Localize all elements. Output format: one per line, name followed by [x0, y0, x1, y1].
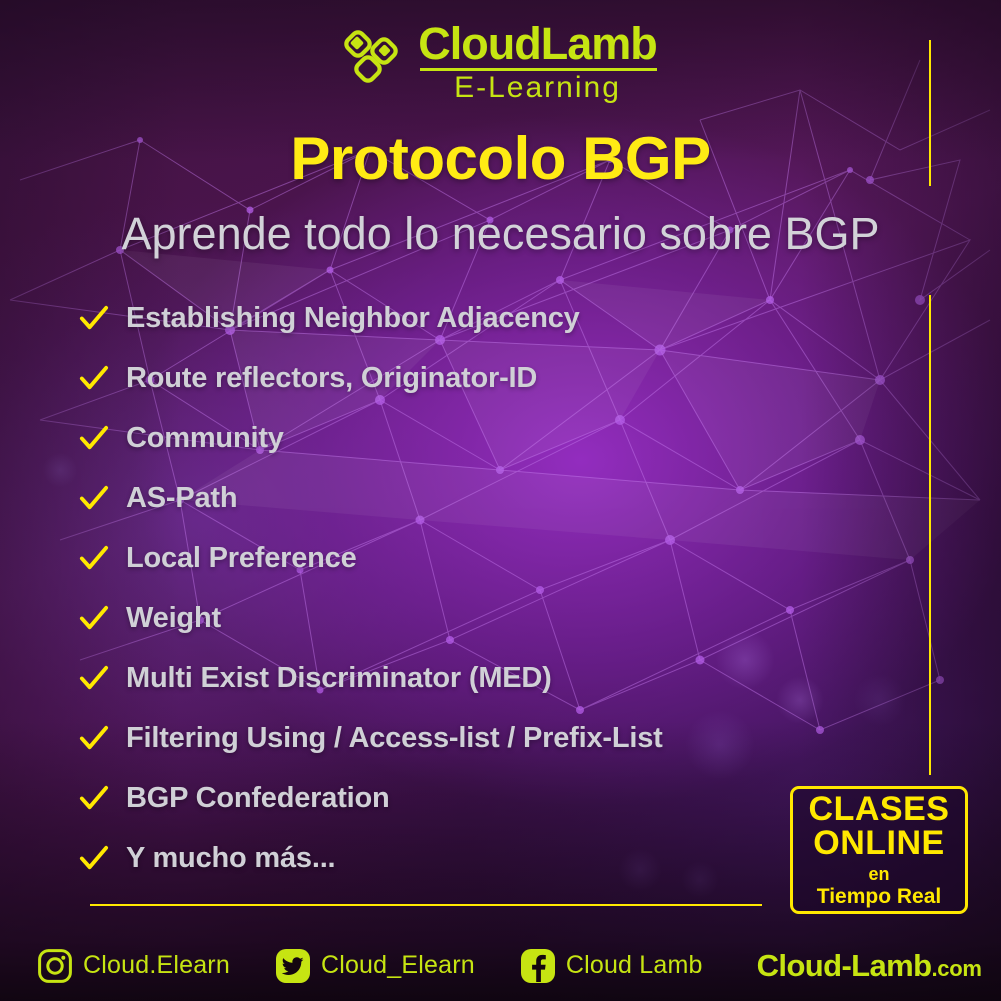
- facebook-icon[interactable]: [521, 949, 555, 983]
- list-item: AS-Path: [78, 468, 878, 528]
- poster-canvas: CloudLamb E-Learning Protocolo BGP Apren…: [0, 0, 1001, 1001]
- check-mark-icon: [78, 423, 109, 454]
- check-mark-icon: [78, 303, 109, 334]
- social-instagram[interactable]: Cloud.Elearn: [38, 949, 230, 983]
- social-facebook[interactable]: Cloud Lamb: [521, 949, 703, 983]
- check-mark-icon: [78, 483, 109, 514]
- social-handle[interactable]: Cloud_Elearn: [321, 951, 475, 980]
- page-subtitle: Aprende todo lo necesario sobre BGP: [0, 208, 1001, 260]
- footer-bar: Cloud.Elearn Cloud_Elearn Cloud Lamb Clo…: [0, 930, 1001, 1001]
- website-url[interactable]: Cloud-Lamb.com: [757, 948, 982, 984]
- badge-line-4: Tiempo Real: [817, 885, 941, 908]
- horizontal-accent-line: [90, 904, 762, 906]
- list-item-label: Filtering Using / Access-list / Prefix-L…: [126, 722, 663, 755]
- check-mark-icon: [78, 603, 109, 634]
- list-item: Community: [78, 408, 878, 468]
- badge-line-3: en: [868, 863, 889, 886]
- list-item-label: AS-Path: [126, 482, 237, 515]
- list-item-label: Multi Exist Discriminator (MED): [126, 662, 552, 695]
- page-title: Protocolo BGP: [0, 124, 1001, 193]
- brand-logo: CloudLamb E-Learning: [0, 22, 1001, 104]
- website-name[interactable]: Cloud-Lamb: [757, 948, 932, 984]
- list-item-label: Weight: [126, 602, 221, 635]
- badge-line-1: CLASES: [809, 792, 950, 827]
- list-item-label: BGP Confederation: [126, 782, 390, 815]
- check-mark-icon: [78, 363, 109, 394]
- check-mark-icon: [78, 663, 109, 694]
- list-item-label: Local Preference: [126, 542, 357, 575]
- social-handle[interactable]: Cloud.Elearn: [83, 951, 230, 980]
- check-mark-icon: [78, 843, 109, 874]
- cloudlamb-diamond-logo-icon: [344, 24, 406, 90]
- badge-line-2: ONLINE: [813, 826, 944, 861]
- social-handle[interactable]: Cloud Lamb: [566, 951, 703, 980]
- list-item: BGP Confederation: [78, 768, 878, 828]
- list-item-label: Community: [126, 422, 284, 455]
- list-item: Local Preference: [78, 528, 878, 588]
- list-item-label: Y mucho más...: [126, 842, 335, 875]
- check-mark-icon: [78, 783, 109, 814]
- list-item: Y mucho más...: [78, 828, 878, 888]
- twitter-icon[interactable]: [276, 949, 310, 983]
- feature-checklist: Establishing Neighbor Adjacency Route re…: [78, 288, 878, 888]
- list-item-label: Establishing Neighbor Adjacency: [126, 302, 580, 335]
- list-item: Route reflectors, Originator-ID: [78, 348, 878, 408]
- brand-wordmark: CloudLamb E-Learning: [418, 22, 656, 104]
- list-item: Filtering Using / Access-list / Prefix-L…: [78, 708, 878, 768]
- brand-tagline: E-Learning: [418, 72, 656, 104]
- list-item-label: Route reflectors, Originator-ID: [126, 362, 537, 395]
- instagram-icon[interactable]: [38, 949, 72, 983]
- brand-name: CloudLamb: [418, 22, 656, 66]
- list-item: Weight: [78, 588, 878, 648]
- social-twitter[interactable]: Cloud_Elearn: [276, 949, 475, 983]
- website-tld[interactable]: .com: [931, 956, 981, 982]
- check-mark-icon: [78, 543, 109, 574]
- list-item: Establishing Neighbor Adjacency: [78, 288, 878, 348]
- vertical-accent-line-bottom: [929, 295, 931, 775]
- list-item: Multi Exist Discriminator (MED): [78, 648, 878, 708]
- check-mark-icon: [78, 723, 109, 754]
- clases-online-badge: CLASES ONLINE en Tiempo Real: [790, 786, 968, 914]
